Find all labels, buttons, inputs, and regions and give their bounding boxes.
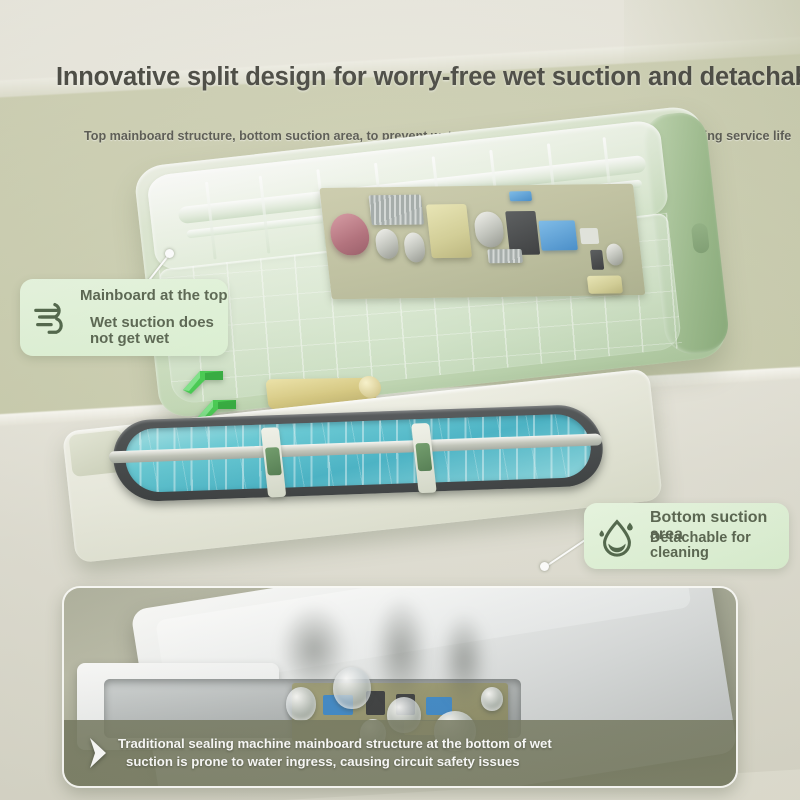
pcb-inductor	[328, 213, 371, 255]
callout-line-2: Detachable for cleaning	[640, 531, 751, 562]
smoke-wisp	[279, 604, 349, 694]
smoke-wisp	[440, 612, 488, 708]
callout-badge-suction[interactable]: Bottom suction area Detachable for clean…	[584, 503, 789, 569]
warning-caption-line-2: suction is prone to water ingress, causi…	[118, 753, 552, 771]
pcb-heatsink	[487, 249, 523, 263]
callout-badge-mainboard[interactable]: Mainboard at the top Wet suction does no…	[20, 279, 228, 356]
warning-caption-text: Traditional sealing machine mainboard st…	[118, 735, 552, 770]
pcb-blue-component	[538, 220, 578, 250]
pcb-capacitor	[374, 229, 399, 259]
callout-line-2b: not get wet	[80, 331, 228, 347]
pcb-transformer	[587, 275, 623, 293]
product-end-cap-detail	[691, 222, 710, 254]
callout-line-1a: Bottom suction	[644, 510, 767, 527]
callout-line-2a: Wet suction does	[80, 315, 228, 331]
pcb-heatsink	[369, 195, 425, 226]
wind-icon	[30, 294, 76, 340]
callout-line-2: Wet suction does not get wet	[80, 315, 228, 347]
pcb-capacitor	[605, 244, 624, 266]
pcb-capacitor	[473, 211, 505, 247]
callout-leader-dot-bottom	[540, 562, 549, 571]
infographic-canvas: Innovative split design for worry-free w…	[0, 0, 800, 800]
mainboard-pcb	[319, 184, 645, 300]
pcb-capacitor	[403, 232, 426, 262]
pcb-ic-chip	[579, 228, 599, 244]
pcb-component	[590, 250, 604, 270]
callout-line-2a: Detachable for	[640, 531, 751, 546]
callout-badge-text: Mainboard at the top Wet suction does no…	[80, 288, 228, 347]
water-droplet	[481, 687, 503, 711]
smoke-wisp	[373, 596, 429, 706]
warning-caption-bar: Traditional sealing machine mainboard st…	[64, 720, 736, 786]
callout-badge-text: Bottom suction area Detachable for clean…	[644, 512, 775, 560]
comparison-inset-panel: Traditional sealing machine mainboard st…	[62, 586, 738, 788]
warning-caption-line-1: Traditional sealing machine mainboard st…	[118, 735, 552, 753]
callout-leader-dot-top	[165, 249, 174, 258]
water-drop-icon	[594, 513, 640, 559]
arrow-up-icon	[180, 364, 226, 394]
chevron-right-icon	[86, 736, 112, 770]
page-title: Innovative split design for worry-free w…	[56, 63, 800, 92]
callout-line-1: Mainboard at the top	[80, 288, 228, 304]
pcb-blue-component	[509, 191, 532, 201]
pcb-transformer	[426, 204, 472, 258]
callout-line-2b: cleaning	[640, 546, 751, 561]
